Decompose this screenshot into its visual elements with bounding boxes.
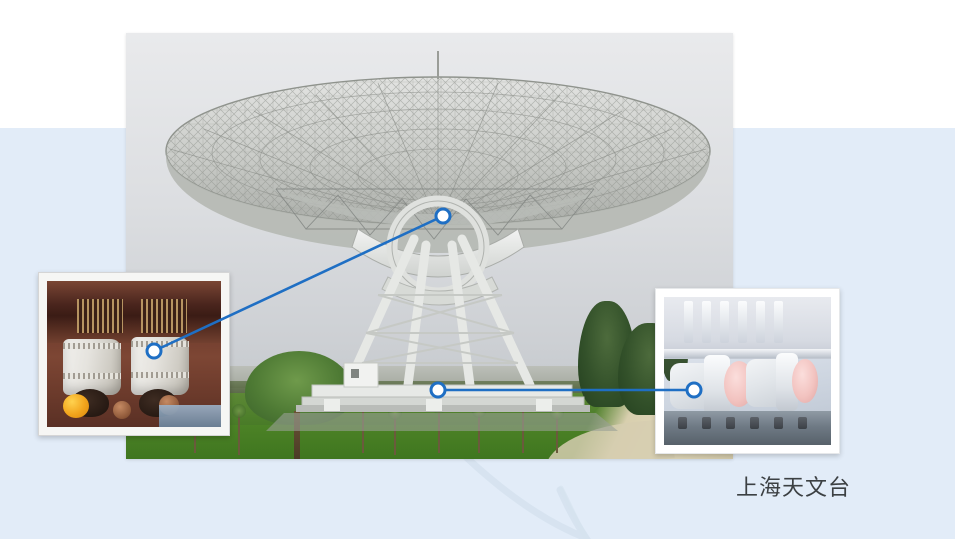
- callout-right-fin: [702, 301, 711, 343]
- callout-right-bolt: [750, 417, 759, 429]
- callout-left-gear-rack-1: [77, 299, 123, 333]
- callout-right-bolt: [726, 417, 735, 429]
- callout-left-worker-head-1: [113, 401, 131, 419]
- callout-right-bolt: [798, 417, 807, 429]
- callout-right-bolt: [678, 417, 687, 429]
- callout-left-gear-rack-2: [141, 299, 187, 333]
- callout-right-fin: [774, 301, 783, 343]
- callout-right-fin: [756, 301, 765, 343]
- callout-right-fin: [720, 301, 729, 343]
- callout-left-motor-2: [131, 337, 189, 395]
- callout-left-image: [47, 281, 221, 427]
- slide-canvas: 上海天文台: [0, 0, 955, 539]
- caption-label: 上海天文台: [736, 470, 851, 502]
- callout-left-steel-beam: [47, 281, 221, 343]
- callout-right-rail: [664, 349, 831, 358]
- callout-left-worker-clothing: [159, 405, 221, 427]
- callout-left-hard-hat: [63, 394, 89, 418]
- callout-right-bolt: [702, 417, 711, 429]
- callout-photo-right: [655, 288, 840, 454]
- callout-right-image: [664, 297, 831, 445]
- callout-photo-left: [38, 272, 230, 436]
- callout-left-motor-1: [63, 339, 121, 395]
- callout-right-end-cap-2: [792, 359, 818, 403]
- callout-right-bolt: [774, 417, 783, 429]
- callout-right-fin: [738, 301, 747, 343]
- callout-right-fin: [684, 301, 693, 343]
